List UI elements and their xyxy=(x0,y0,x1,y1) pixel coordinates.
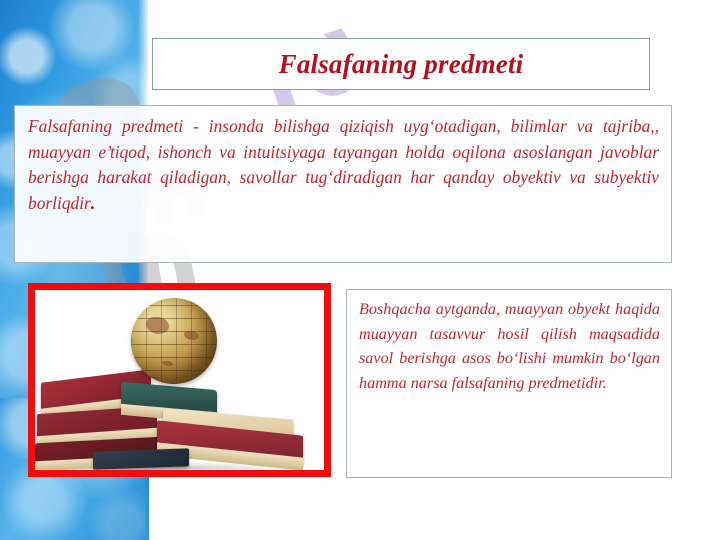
title-box: Falsafaning predmeti xyxy=(152,38,650,90)
globe-books-photo xyxy=(35,290,324,470)
book-dark-small xyxy=(93,448,189,469)
body-paragraph: Falsafaning predmeti - insonda bilishga … xyxy=(28,114,659,216)
body-paragraph-tail: . xyxy=(91,193,95,213)
globe-books-photo-frame xyxy=(28,283,331,477)
globe-icon xyxy=(131,298,217,384)
note-text-box: Boshqacha aytganda, muayyan obyekt haqid… xyxy=(346,289,672,478)
slide-canvas: dfsdf 24 Falsafaning predmeti Falsafanin… xyxy=(0,0,720,540)
body-paragraph-text: Falsafaning predmeti - insonda bilishga … xyxy=(28,116,659,213)
body-text-box: Falsafaning predmeti - insonda bilishga … xyxy=(14,105,672,263)
note-paragraph: Boshqacha aytganda, muayyan obyekt haqid… xyxy=(359,297,660,396)
page-title: Falsafaning predmeti xyxy=(279,49,524,80)
